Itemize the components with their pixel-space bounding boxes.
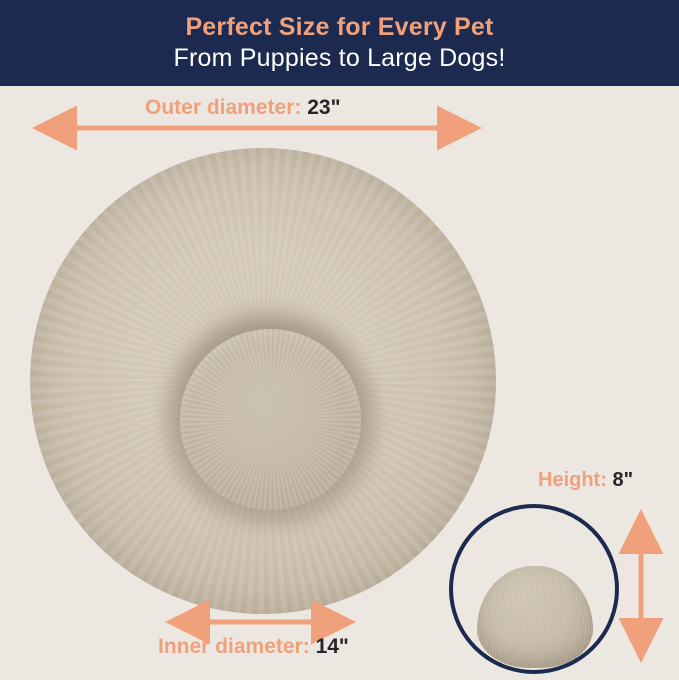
height-value: 8"	[612, 469, 633, 491]
height-label: Height: 8"	[538, 469, 633, 492]
banner-headline: Perfect Size for Every Pet	[185, 12, 493, 42]
side-view-fur-texture	[477, 566, 593, 668]
banner-subheadline: From Puppies to Large Dogs!	[174, 42, 506, 74]
inner-diameter-label-text: Inner diameter:	[158, 635, 310, 658]
side-view-bed	[477, 566, 593, 668]
inner-diameter-value: 14"	[316, 635, 349, 658]
outer-diameter-label-text: Outer diameter:	[145, 96, 301, 119]
side-view-circle-frame	[449, 504, 619, 674]
donut-dog-bed-top-view	[30, 148, 496, 614]
header-banner: Perfect Size for Every Pet From Puppies …	[0, 0, 679, 86]
outer-diameter-label: Outer diameter: 23"	[145, 96, 341, 120]
donut-dog-bed-side-view	[449, 504, 625, 680]
bed-inner-fur-texture	[180, 329, 361, 510]
bed-inner-cushion	[180, 329, 361, 510]
product-stage: Outer diameter: 23" Inner diameter: 14" …	[0, 86, 679, 667]
height-label-text: Height:	[538, 469, 607, 491]
outer-diameter-value: 23"	[307, 96, 340, 119]
inner-diameter-label: Inner diameter: 14"	[158, 635, 349, 659]
